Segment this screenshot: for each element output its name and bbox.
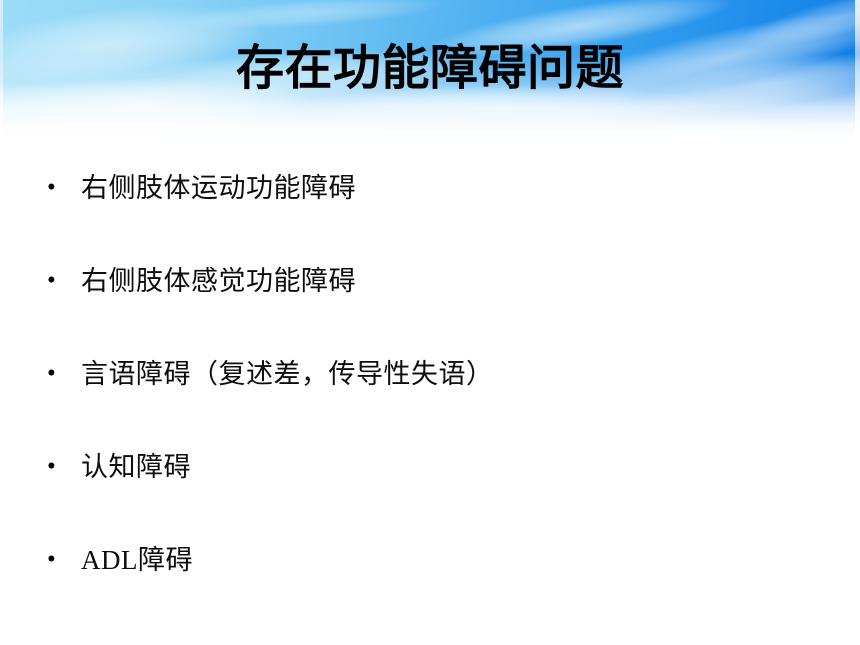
list-item: • ADL障碍 — [44, 540, 824, 633]
list-item-label: ADL障碍 — [81, 540, 824, 580]
list-item: • 右侧肢体运动功能障碍 — [44, 168, 824, 261]
bullet-point-icon: • — [44, 261, 81, 301]
list-item: • 言语障碍（复述差，传导性失语） — [44, 354, 824, 447]
list-item-label: 言语障碍（复述差，传导性失语） — [81, 354, 824, 394]
list-item: • 右侧肢体感觉功能障碍 — [44, 261, 824, 354]
bullet-point-icon: • — [44, 447, 81, 487]
presentation-slide: 存在功能障碍问题 • 右侧肢体运动功能障碍 • 右侧肢体感觉功能障碍 • 言语障… — [0, 0, 860, 645]
list-item-label: 认知障碍 — [81, 447, 824, 487]
bullet-point-icon: • — [44, 168, 81, 208]
slide-title: 存在功能障碍问题 — [0, 42, 860, 96]
bullet-point-icon: • — [44, 540, 81, 580]
list-item: • 认知障碍 — [44, 447, 824, 540]
bullet-point-icon: • — [44, 354, 81, 394]
list-item-label: 右侧肢体运动功能障碍 — [81, 168, 824, 208]
bullet-list: • 右侧肢体运动功能障碍 • 右侧肢体感觉功能障碍 • 言语障碍（复述差，传导性… — [44, 168, 824, 633]
list-item-label: 右侧肢体感觉功能障碍 — [81, 261, 824, 301]
